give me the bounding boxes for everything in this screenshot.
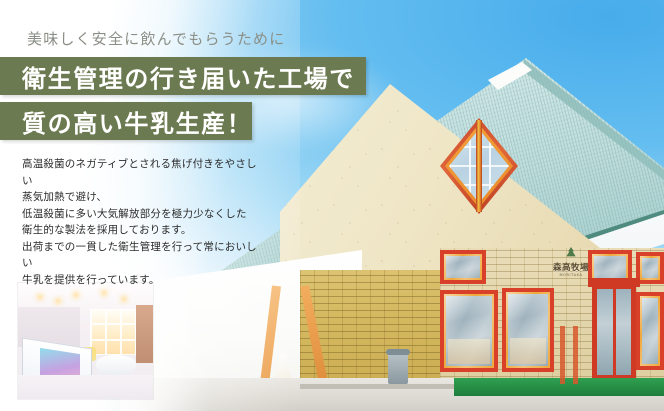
interior-light-icon bbox=[74, 293, 78, 297]
body-copy: 高温殺菌のネガティブとされる焦げ付きをやさしい 蒸気加熱で避け、 低温殺菌に多い… bbox=[22, 156, 262, 288]
window-reflection bbox=[640, 256, 660, 280]
trash-bin bbox=[388, 352, 408, 384]
window-reflection bbox=[444, 254, 482, 280]
interior-light-icon bbox=[56, 299, 60, 303]
interior-floor bbox=[18, 375, 153, 399]
interior-table bbox=[96, 355, 136, 375]
headline-band-1: 衛生管理の行き届いた工場で bbox=[0, 57, 366, 95]
interior-window-muntins bbox=[90, 309, 136, 355]
transom-window-far-right bbox=[636, 252, 664, 284]
interior-light-icon bbox=[122, 297, 126, 301]
shop-interior-photo bbox=[18, 283, 153, 399]
headline-band-2: 質の高い牛乳生産！ bbox=[0, 102, 252, 140]
window-interior-glow bbox=[510, 338, 546, 364]
window-interior-glow bbox=[448, 339, 490, 364]
window-reflection bbox=[640, 296, 660, 366]
shop-sign-subtitle: MORITAKA bbox=[538, 273, 604, 277]
display-window-1 bbox=[440, 290, 498, 372]
entrance-door-divider bbox=[613, 286, 616, 378]
display-window-2 bbox=[502, 288, 554, 372]
farm-logo-icon bbox=[565, 247, 578, 260]
shop-sign: 森高牧場 MORITAKA bbox=[538, 246, 604, 284]
interior-door bbox=[136, 305, 153, 363]
turf-strip-right bbox=[454, 378, 664, 396]
diamond-window-center-post bbox=[476, 120, 482, 212]
banner-root: 森高牧場 MORITAKA bbox=[0, 0, 664, 411]
entrance-side-poles bbox=[560, 326, 600, 384]
kicker-text: 美味しく安全に飲んでもらうために bbox=[27, 28, 285, 49]
transom-window-left bbox=[440, 250, 486, 284]
display-window-4 bbox=[636, 292, 664, 370]
interior-light-icon bbox=[102, 291, 106, 295]
diamond-window bbox=[440, 118, 518, 214]
shop-sign-name: 森高牧場 bbox=[538, 261, 604, 273]
interior-light-icon bbox=[38, 295, 42, 299]
